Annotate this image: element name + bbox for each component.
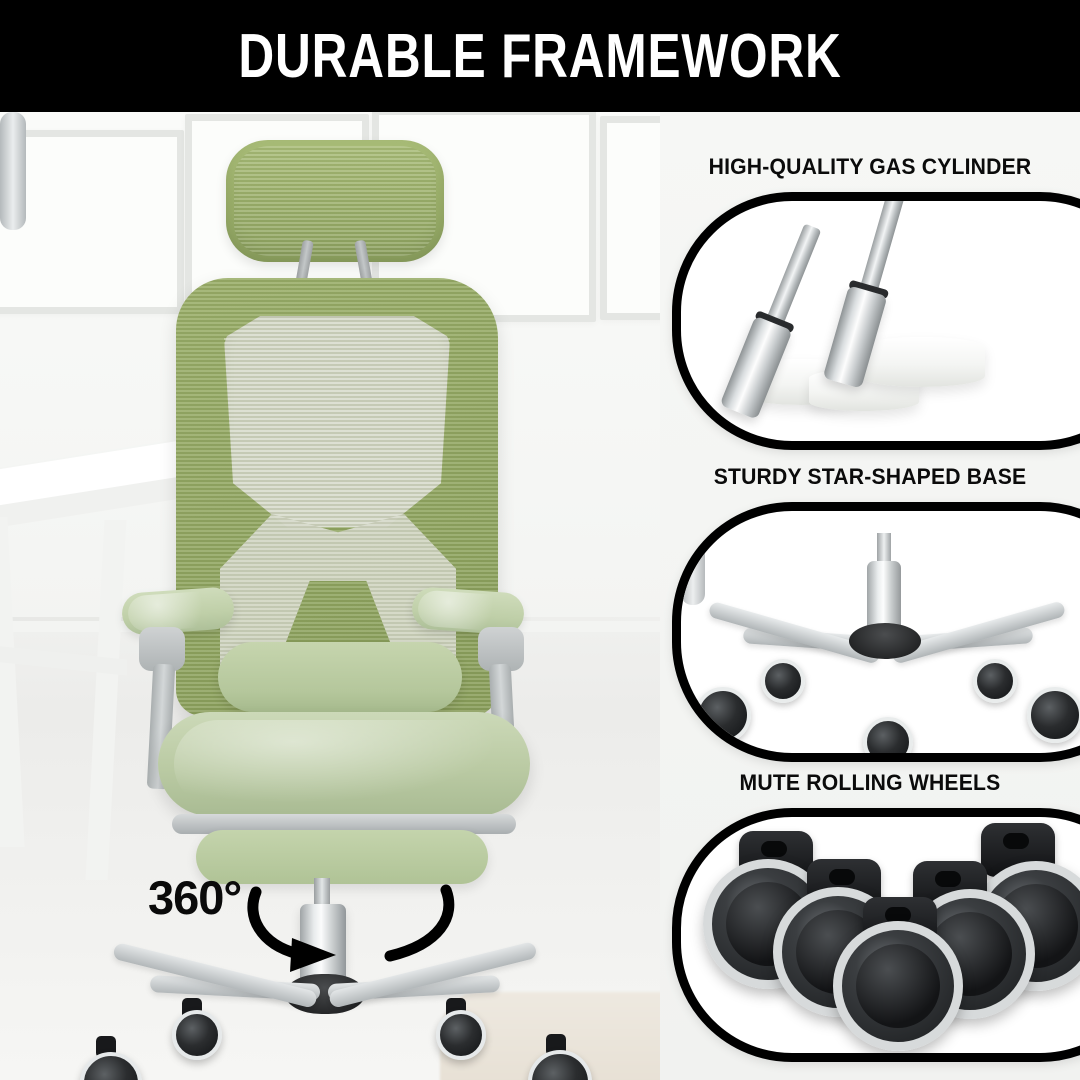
feature-panels: HIGH-QUALITY GAS CYLINDER STURDY STAR	[660, 112, 1080, 1080]
caster-wheel	[172, 1010, 222, 1060]
base-hub	[849, 623, 921, 659]
header-banner: DURABLE FRAMEWORK	[0, 0, 1080, 112]
rotation-badge: 360°	[148, 874, 241, 921]
base-caster	[973, 659, 1017, 703]
base-caster	[761, 659, 805, 703]
gas-cylinder-art	[681, 201, 1080, 441]
feature-frame-gas-cylinder	[672, 192, 1080, 450]
display-podium	[859, 337, 985, 387]
feature-frame-star-base	[672, 502, 1080, 762]
page-title: DURABLE FRAMEWORK	[238, 21, 841, 92]
mesh-panel-upper	[224, 316, 450, 536]
base-caster	[1027, 687, 1080, 743]
feature-label-wheels: MUTE ROLLING WHEELS	[673, 770, 1068, 796]
infographic-page: DURABLE FRAMEWORK	[0, 0, 1080, 1080]
feature-label-star-base: STURDY STAR-SHAPED BASE	[673, 464, 1068, 490]
base-caster	[695, 687, 751, 743]
feature-frame-wheels	[672, 808, 1080, 1062]
caster-wheel	[528, 1050, 592, 1080]
rotation-arrow-icon	[240, 882, 460, 982]
caster-wheel-unit	[833, 921, 963, 1051]
star-base-art	[681, 511, 1080, 753]
chair-headrest	[226, 140, 444, 262]
base-caster	[863, 717, 913, 762]
caster-wheel	[436, 1010, 486, 1060]
feature-label-gas-cylinder: HIGH-QUALITY GAS CYLINDER	[673, 154, 1068, 180]
caster-wheel	[80, 1052, 142, 1080]
lumbar-cushion	[218, 642, 462, 712]
caster-wheels-art	[681, 817, 1080, 1053]
product-scene: 360°	[0, 112, 660, 1080]
base-leg	[0, 112, 26, 230]
seat-cushion	[158, 712, 530, 816]
star-leg	[681, 511, 705, 605]
rotation-label: 360°	[148, 874, 241, 921]
